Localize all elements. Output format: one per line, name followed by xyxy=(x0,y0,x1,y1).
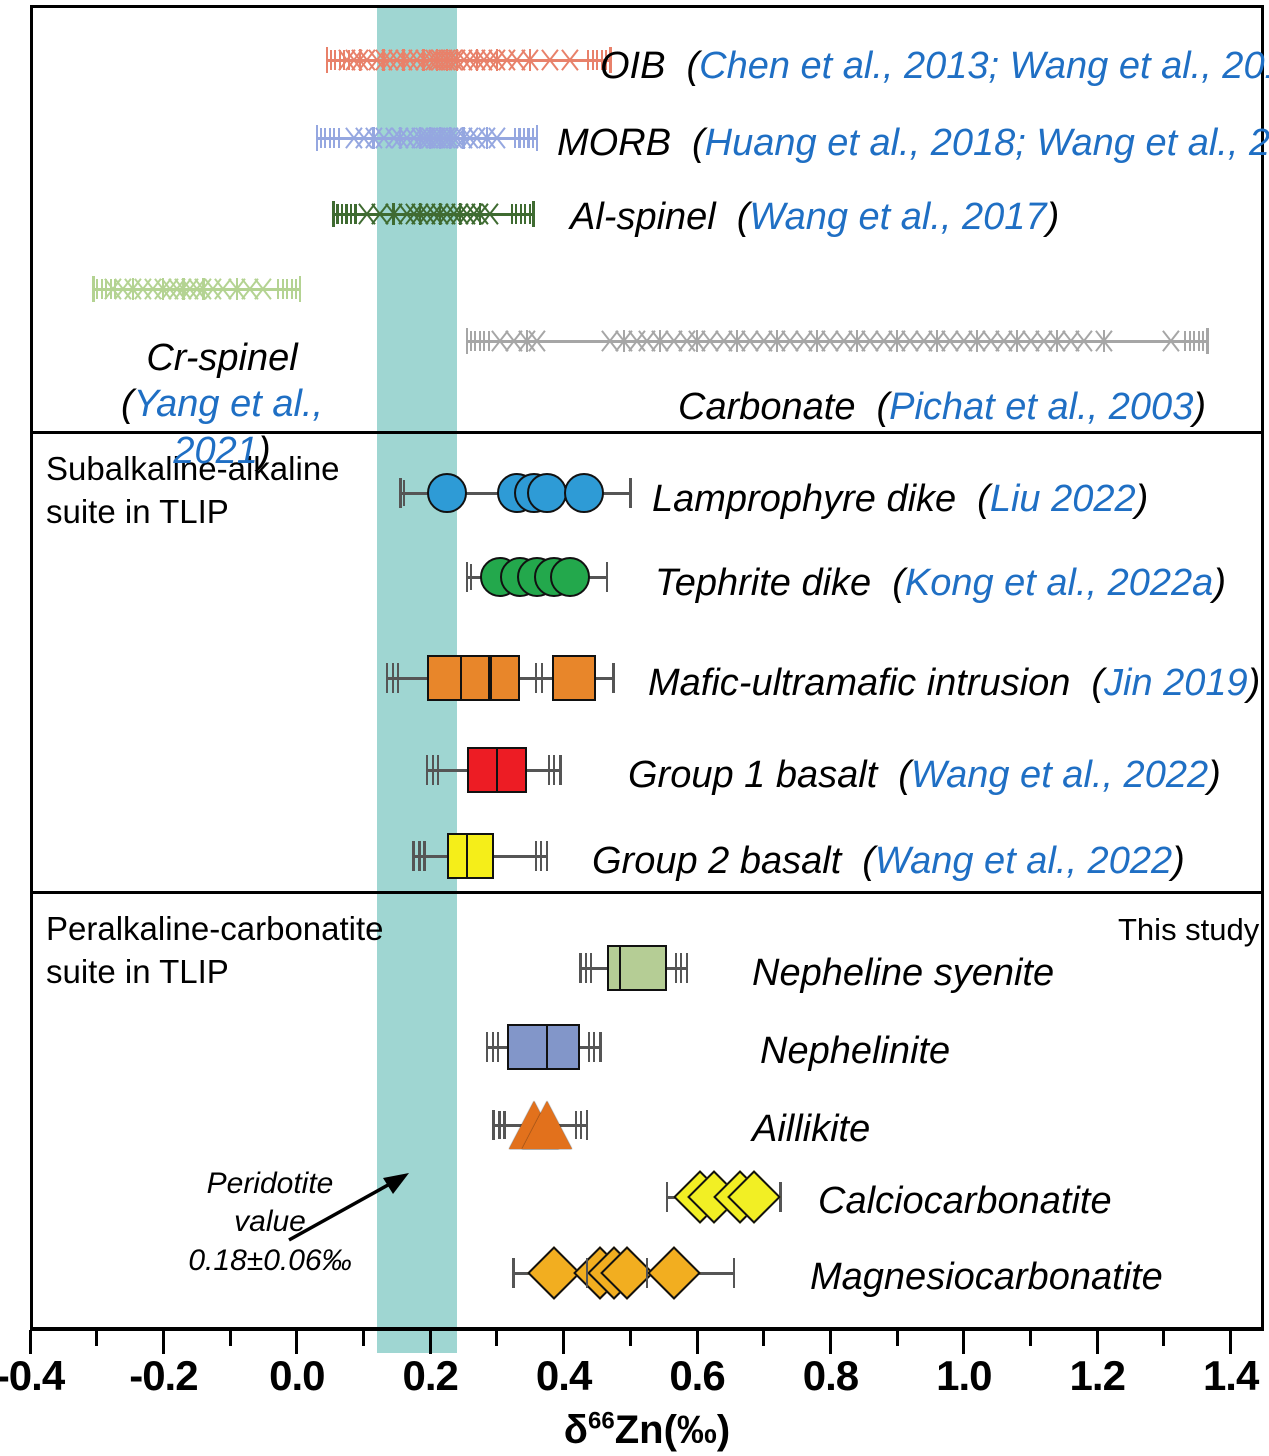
axis-title-delta: δ66Zn(‰) xyxy=(564,1408,730,1452)
data-point-tick xyxy=(333,128,335,148)
axis-tick-minor xyxy=(896,1330,899,1346)
data-point-tick xyxy=(350,204,352,224)
axis-tick-label: 1.2 xyxy=(1070,1352,1125,1400)
whisker-cap xyxy=(733,1258,736,1288)
data-point-tick xyxy=(282,279,284,299)
axis-tick-major xyxy=(29,1330,32,1354)
data-box xyxy=(460,655,490,701)
data-point-x-marker xyxy=(484,125,510,151)
data-point-tick xyxy=(575,1111,577,1139)
data-point-tick xyxy=(540,841,542,871)
data-point-tick xyxy=(345,204,347,224)
whisker-cap xyxy=(332,201,335,227)
data-point-tick xyxy=(514,128,516,148)
whisker-cap xyxy=(316,125,319,151)
axis-tick-major xyxy=(429,1330,432,1354)
series-name: Lamprophyre dike xyxy=(652,478,956,520)
data-point-tick xyxy=(286,279,288,299)
data-point-x-marker xyxy=(557,47,583,73)
whisker-cap xyxy=(466,328,469,354)
data-point-tick xyxy=(580,1111,582,1139)
axis-tick-minor xyxy=(762,1330,765,1346)
axis-baseline xyxy=(30,1327,1264,1331)
axis-tick-label: 1.4 xyxy=(1203,1352,1258,1400)
whisker-cap xyxy=(492,1110,495,1140)
series-label-nephelinite: Nephelinite xyxy=(760,1030,950,1073)
axis-tick-label: 0.8 xyxy=(803,1352,858,1400)
data-point-tick xyxy=(392,663,394,693)
data-point-tick xyxy=(330,50,332,70)
data-point-tick xyxy=(320,128,322,148)
data-point-tick xyxy=(1189,331,1191,351)
series-name: MORB xyxy=(557,122,671,164)
series-name: Carbonate xyxy=(678,386,855,428)
axis-tick-major xyxy=(1229,1330,1232,1354)
data-point-tick xyxy=(532,128,534,148)
data-point-tick xyxy=(518,128,520,148)
whisker-cap xyxy=(326,47,329,73)
series-label-tephrite-dike: Tephrite dike(Kong et al., 2022a) xyxy=(655,562,1226,605)
data-point-tick xyxy=(553,755,555,785)
data-point-tick xyxy=(488,331,490,351)
data-point-tick xyxy=(588,1032,590,1062)
series-label-calciocarbonatite: Calciocarbonatite xyxy=(818,1180,1112,1223)
data-point-tick xyxy=(101,279,103,299)
series-label-morb: MORB(Huang et al., 2018; Wang et al., 20… xyxy=(557,122,1269,165)
series-name: Nepheline syenite xyxy=(752,952,1054,994)
panel-3-title: Peralkaline-carbonatite suite in TLIP xyxy=(46,908,384,994)
data-point-tick xyxy=(586,1258,588,1288)
data-point-tick xyxy=(324,128,326,148)
whisker-cap xyxy=(559,755,562,785)
whisker-cap xyxy=(666,1182,669,1212)
data-point-tick xyxy=(1193,331,1195,351)
data-point-tick xyxy=(291,279,293,299)
data-point-tick xyxy=(432,755,434,785)
series-name: Aillikite xyxy=(752,1108,870,1150)
data-point-tick xyxy=(498,1111,500,1139)
box-median-line xyxy=(546,1024,548,1070)
data-point-tick xyxy=(96,279,98,299)
data-point-tick xyxy=(527,128,529,148)
data-point-tick xyxy=(585,953,587,983)
axis-tick-minor xyxy=(495,1330,498,1346)
data-point-tick xyxy=(105,279,107,299)
axis-tick-label: -0.4 xyxy=(0,1352,64,1400)
whisker-cap xyxy=(532,201,535,227)
data-point-tick xyxy=(1202,331,1204,351)
box-median-line xyxy=(466,833,468,879)
series-reference: (Pichat et al., 2003) xyxy=(876,386,1206,428)
data-point-tick xyxy=(338,128,340,148)
whisker-cap xyxy=(399,478,402,508)
axis-tick-label: 0.6 xyxy=(669,1352,724,1400)
data-point-tick xyxy=(418,841,420,871)
series-label-lamprophyre-dike: Lamprophyre dike(Liu 2022) xyxy=(652,478,1148,521)
axis-tick-major xyxy=(1096,1330,1099,1354)
series-reference: (Yang et al., 2021) xyxy=(92,381,352,474)
data-point-tick xyxy=(492,1032,494,1062)
axis-tick-minor xyxy=(629,1330,632,1346)
whisker-cap xyxy=(486,1032,489,1062)
series-label-cr-spinel: Cr-spinel(Yang et al., 2021) xyxy=(92,335,352,474)
axis-tick-minor xyxy=(229,1330,232,1346)
series-name: Mafic-ultramafic intrusion xyxy=(648,662,1070,704)
data-point-tick xyxy=(515,204,517,224)
data-point-tick xyxy=(470,331,472,351)
series-name: Calciocarbonatite xyxy=(818,1180,1112,1222)
axis-tick-major xyxy=(295,1330,298,1354)
data-point-tick xyxy=(646,1258,648,1288)
data-point-tick xyxy=(348,50,350,70)
series-reference: (Huang et al., 2018; Wang et al., 2017) xyxy=(692,122,1269,164)
series-label-al-spinel: Al-spinel(Wang et al., 2017) xyxy=(570,196,1059,239)
data-point-triangle xyxy=(522,1101,572,1149)
data-point-tick xyxy=(474,331,476,351)
data-point-tick xyxy=(593,1032,595,1062)
whisker-cap xyxy=(599,1032,602,1062)
axis-tick-minor xyxy=(362,1330,365,1346)
whisker-cap xyxy=(686,953,689,983)
data-point-circle xyxy=(527,473,567,513)
data-box xyxy=(607,945,667,991)
data-point-tick xyxy=(529,204,531,224)
whisker-cap xyxy=(512,1258,515,1288)
data-point-tick xyxy=(295,279,297,299)
axis-tick-major xyxy=(829,1330,832,1354)
data-point-x-marker xyxy=(524,328,550,354)
data-box xyxy=(507,1024,580,1070)
series-label-aillikite: Aillikite xyxy=(752,1108,870,1151)
whisker-cap xyxy=(299,276,302,302)
whisker-cap xyxy=(466,562,469,592)
series-name: Magnesiocarbonatite xyxy=(810,1256,1163,1298)
data-point-tick xyxy=(1184,331,1186,351)
data-point-x-marker xyxy=(1158,328,1184,354)
series-reference: (Jin 2019) xyxy=(1091,662,1260,704)
series-name: Group 2 basalt xyxy=(592,840,841,882)
series-label-group-2-basalt: Group 2 basalt(Wang et al., 2022) xyxy=(592,840,1185,883)
data-point-tick xyxy=(541,663,543,693)
x-axis-title: δ66Zn(‰) xyxy=(564,1408,730,1453)
data-point-tick xyxy=(535,663,537,693)
axis-tick-label: 1.0 xyxy=(936,1352,991,1400)
series-reference: (Liu 2022) xyxy=(977,478,1148,520)
data-point-tick xyxy=(329,128,331,148)
box-median-line xyxy=(496,747,498,793)
data-point-tick xyxy=(341,204,343,224)
axis-tick-major xyxy=(562,1330,565,1354)
data-point-tick xyxy=(423,841,425,871)
data-point-tick xyxy=(548,755,550,785)
peridotite-arrow-icon xyxy=(287,1168,417,1243)
data-point-tick xyxy=(479,331,481,351)
series-name: Group 1 basalt xyxy=(628,754,877,796)
box-median-line xyxy=(619,945,621,991)
data-box xyxy=(447,833,494,879)
whisker-cap xyxy=(579,953,582,983)
whisker-cap xyxy=(606,562,609,592)
data-point-tick xyxy=(675,953,677,983)
data-point-tick xyxy=(470,564,472,590)
series-reference: (Wang et al., 2022) xyxy=(898,754,1220,796)
axis-tick-label: -0.2 xyxy=(129,1352,197,1400)
whisker-cap xyxy=(92,276,95,302)
data-point-tick xyxy=(354,204,356,224)
data-point-x-marker xyxy=(477,201,503,227)
data-point-circle xyxy=(550,557,590,597)
data-point-tick xyxy=(680,953,682,983)
series-name: Nephelinite xyxy=(760,1030,950,1072)
series-reference: (Chen et al., 2013; Wang et al., 2017) xyxy=(686,45,1269,87)
figure-root: Subalkaline-alkaline suite in TLIP Peral… xyxy=(0,0,1269,1456)
this-study-label: This study xyxy=(1118,912,1259,948)
data-box xyxy=(552,655,596,701)
series-label-oib: OIB(Chen et al., 2013; Wang et al., 2017… xyxy=(600,45,1269,88)
whisker-cap xyxy=(612,663,615,693)
data-point-tick xyxy=(397,663,399,693)
series-label-carbonate: Carbonate(Pichat et al., 2003) xyxy=(678,386,1206,429)
series-name: Cr-spinel xyxy=(92,335,352,381)
data-point-tick xyxy=(503,1111,505,1139)
data-box xyxy=(490,655,520,701)
series-name: Tephrite dike xyxy=(655,562,871,604)
axis-tick-major xyxy=(962,1330,965,1354)
axis-tick-major xyxy=(162,1330,165,1354)
whisker-cap xyxy=(536,125,539,151)
axis-tick-minor xyxy=(1029,1330,1032,1346)
whisker-cap xyxy=(629,478,632,508)
data-point-tick xyxy=(343,50,345,70)
axis-title-superscript: 66 xyxy=(588,1408,615,1435)
data-point-tick xyxy=(535,841,537,871)
series-label-magnesiocarbonatite: Magnesiocarbonatite xyxy=(810,1256,1163,1299)
data-point-tick xyxy=(520,204,522,224)
series-label-group-1-basalt: Group 1 basalt(Wang et al., 2022) xyxy=(628,754,1221,797)
data-point-tick xyxy=(403,480,405,506)
data-point-tick xyxy=(524,204,526,224)
series-reference: (Wang et al., 2022) xyxy=(862,840,1184,882)
axis-tick-label: 0.2 xyxy=(403,1352,458,1400)
data-point-tick xyxy=(110,279,112,299)
data-point-tick xyxy=(334,50,336,70)
series-name: OIB xyxy=(600,45,665,87)
whisker-cap xyxy=(386,663,389,693)
data-point-tick xyxy=(592,50,594,70)
axis-tick-major xyxy=(696,1330,699,1354)
whisker-cap xyxy=(1206,328,1209,354)
data-point-tick xyxy=(277,279,279,299)
series-label-mafic-ultramafic-intrusion: Mafic-ultramafic intrusion(Jin 2019) xyxy=(648,662,1260,705)
data-point-tick xyxy=(483,331,485,351)
series-reference: (Kong et al., 2022a) xyxy=(892,562,1226,604)
x-axis: δ66Zn(‰) -0.4-0.20.00.20.40.60.81.01.21.… xyxy=(30,1330,1264,1456)
series-label-nepheline-syenite: Nepheline syenite xyxy=(752,952,1054,995)
series-reference: (Wang et al., 2017) xyxy=(737,196,1059,238)
data-point-tick xyxy=(339,50,341,70)
data-point-tick xyxy=(587,50,589,70)
whisker-cap xyxy=(412,841,415,871)
data-point-tick xyxy=(336,204,338,224)
axis-tick-label: 0.0 xyxy=(269,1352,324,1400)
data-point-tick xyxy=(590,953,592,983)
panel-divider-2 xyxy=(33,891,1261,894)
data-point-tick xyxy=(114,279,116,299)
data-point-tick xyxy=(523,128,525,148)
data-point-tick xyxy=(437,755,439,785)
whisker-cap xyxy=(546,841,549,871)
data-point-tick xyxy=(1198,331,1200,351)
series-name: Al-spinel xyxy=(570,196,716,238)
data-point-x-marker xyxy=(250,276,276,302)
data-point-tick xyxy=(497,1032,499,1062)
data-point-tick xyxy=(596,50,598,70)
data-point-circle xyxy=(564,473,604,513)
axis-tick-minor xyxy=(95,1330,98,1346)
data-point-circle xyxy=(427,473,467,513)
whisker-cap xyxy=(586,1110,589,1140)
axis-tick-minor xyxy=(1162,1330,1165,1346)
data-point-x-marker xyxy=(1091,328,1117,354)
axis-tick-label: 0.4 xyxy=(536,1352,591,1400)
whisker-cap xyxy=(426,755,429,785)
data-point-tick xyxy=(511,204,513,224)
